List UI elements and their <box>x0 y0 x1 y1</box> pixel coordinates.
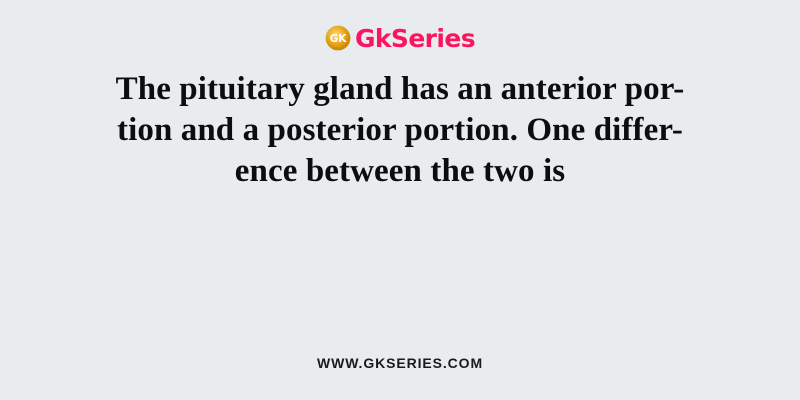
brand-wordmark: GkSeries <box>355 26 475 51</box>
question-card: GK GkSeries The pituitary gland has an a… <box>0 0 800 400</box>
footer-website-url: WWW.GKSERIES.COM <box>317 355 483 371</box>
question-line: The pituitary gland has an anterior por- <box>55 69 745 110</box>
svg-text:GK: GK <box>330 33 348 45</box>
footer: WWW.GKSERIES.COM <box>0 355 800 373</box>
question-line: tion and a posterior portion. One differ… <box>55 110 745 151</box>
question-text: The pituitary gland has an anterior por-… <box>55 69 745 192</box>
gk-circle-logo-icon: GK <box>325 25 351 51</box>
brand-logo[interactable]: GK GkSeries <box>325 21 475 55</box>
question-line: ence between the two is <box>55 151 745 192</box>
